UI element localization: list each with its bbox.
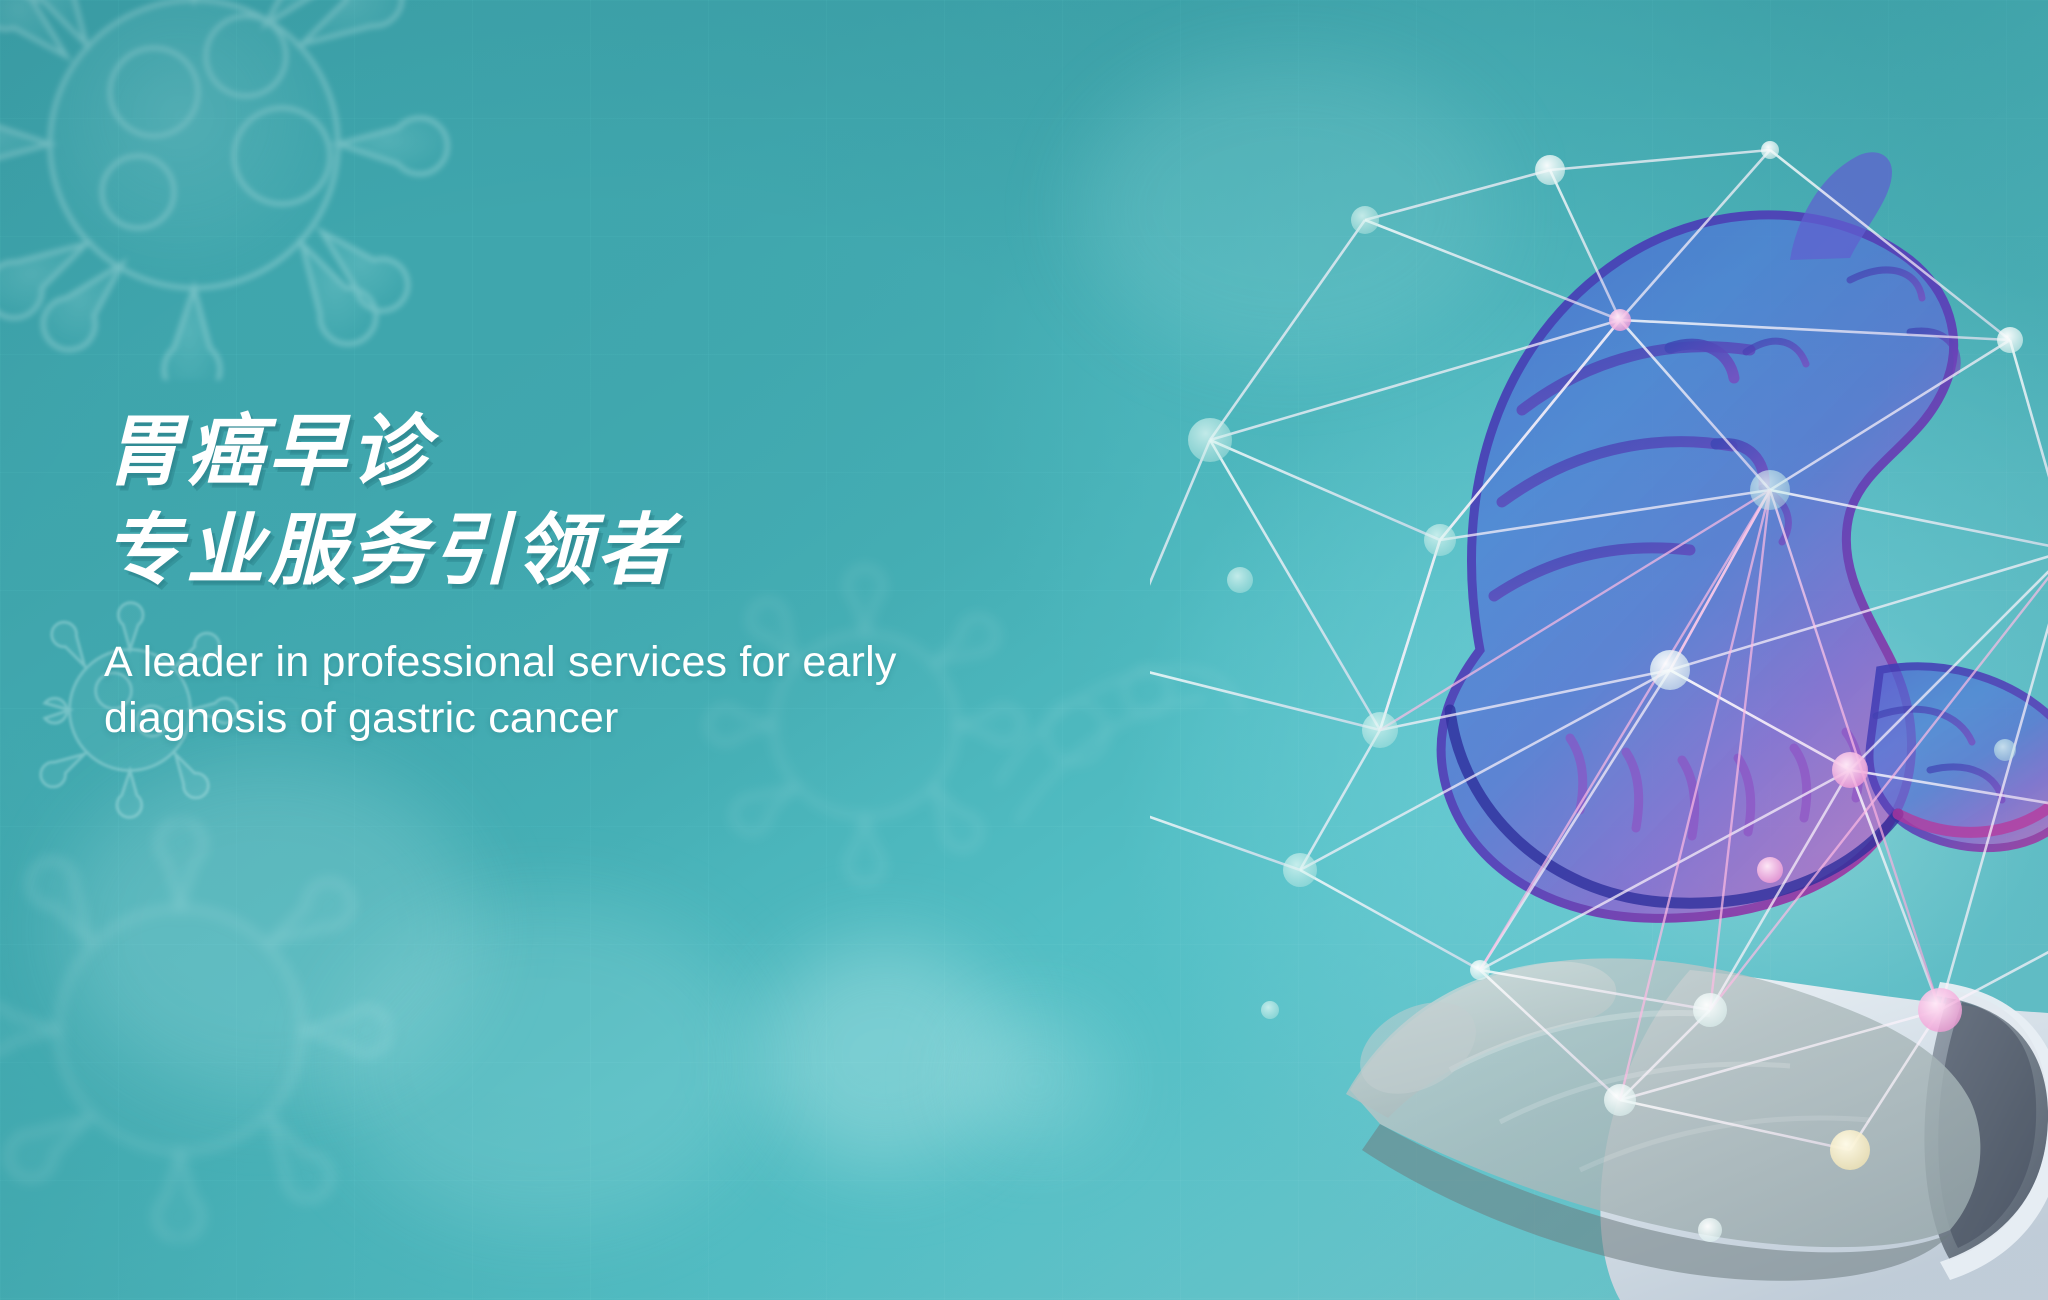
network-mesh-overlay [1150, 110, 2048, 1300]
headline-line-2: 专业服务引领者 [104, 507, 1124, 594]
stomach-artwork [1150, 110, 2048, 1300]
subtitle-line-1: A leader in professional services for ea… [104, 635, 1124, 691]
network-node [1188, 141, 2048, 1242]
subtitle: A leader in professional services for ea… [104, 635, 1124, 747]
headline-line-1: 胃癌早诊 [104, 408, 1124, 495]
hero-text-block: 胃癌早诊 专业服务引领者 A leader in professional se… [104, 408, 1124, 747]
promo-banner: 胃癌早诊 专业服务引领者 A leader in professional se… [0, 0, 2048, 1300]
subtitle-line-2: diagnosis of gastric cancer [104, 691, 1124, 747]
